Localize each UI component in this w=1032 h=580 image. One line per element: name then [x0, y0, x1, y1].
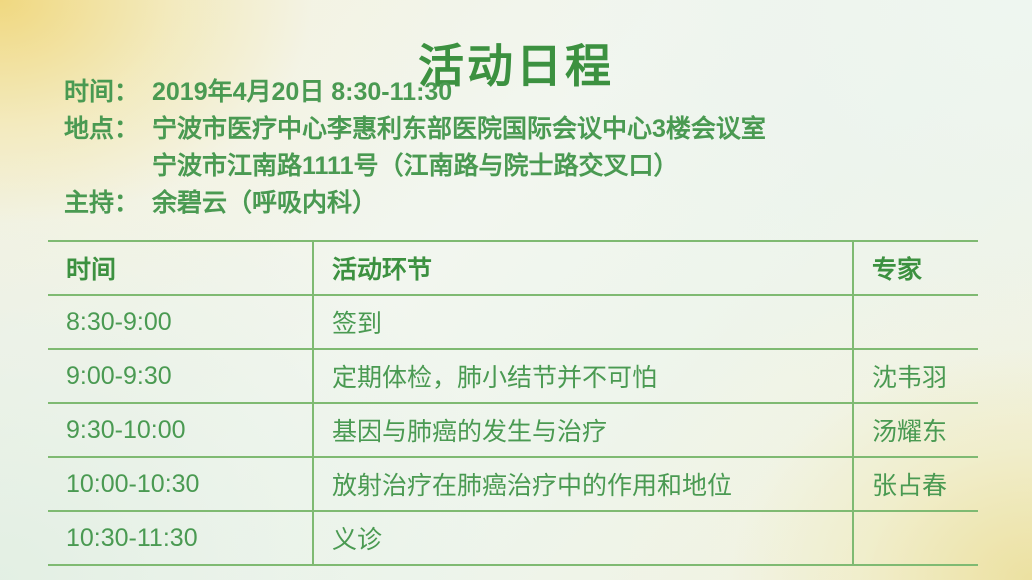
cell-item: 义诊 [313, 511, 853, 565]
schedule-table: 时间 活动环节 专家 8:30-9:00签到9:00-9:30定期体检，肺小结节… [48, 240, 978, 566]
info-line: 地点：宁波市医疗中心李惠利东部医院国际会议中心3楼会议室 [64, 111, 984, 148]
cell-item: 基因与肺癌的发生与治疗 [313, 403, 853, 457]
cell-item: 签到 [313, 295, 853, 349]
table-row: 9:30-10:00基因与肺癌的发生与治疗汤耀东 [48, 403, 978, 457]
info-value: 2019年4月20日 8:30-11:30 [152, 74, 452, 111]
cell-time: 10:00-10:30 [48, 457, 313, 511]
table-row: 10:30-11:30义诊 [48, 511, 978, 565]
info-line: 主持：余碧云（呼吸内科） [64, 185, 984, 222]
column-header-expert: 专家 [853, 241, 978, 295]
schedule-table-head: 时间 活动环节 专家 [48, 241, 978, 295]
cell-expert [853, 511, 978, 565]
column-header-time: 时间 [48, 241, 313, 295]
info-label: 地点： [64, 111, 152, 148]
info-label: 时间： [64, 74, 152, 111]
cell-time: 10:30-11:30 [48, 511, 313, 565]
info-line: 地点：宁波市江南路1111号（江南路与院士路交叉口） [64, 148, 984, 185]
cell-item: 定期体检，肺小结节并不可怕 [313, 349, 853, 403]
cell-item: 放射治疗在肺癌治疗中的作用和地位 [313, 457, 853, 511]
column-header-item: 活动环节 [313, 241, 853, 295]
event-info-block: 时间：2019年4月20日 8:30-11:30地点：宁波市医疗中心李惠利东部医… [64, 74, 984, 222]
event-schedule-poster: 活动日程 时间：2019年4月20日 8:30-11:30地点：宁波市医疗中心李… [0, 0, 1032, 580]
cell-expert: 张占春 [853, 457, 978, 511]
cell-expert: 沈韦羽 [853, 349, 978, 403]
info-value: 宁波市江南路1111号（江南路与院士路交叉口） [152, 148, 678, 185]
cell-time: 9:30-10:00 [48, 403, 313, 457]
cell-time: 9:00-9:30 [48, 349, 313, 403]
cell-expert: 汤耀东 [853, 403, 978, 457]
table-header-row: 时间 活动环节 专家 [48, 241, 978, 295]
info-line: 时间：2019年4月20日 8:30-11:30 [64, 74, 984, 111]
cell-time: 8:30-9:00 [48, 295, 313, 349]
table-row: 8:30-9:00签到 [48, 295, 978, 349]
info-label: 主持： [64, 185, 152, 222]
cell-expert [853, 295, 978, 349]
info-value: 余碧云（呼吸内科） [152, 185, 377, 222]
table-row: 10:00-10:30放射治疗在肺癌治疗中的作用和地位张占春 [48, 457, 978, 511]
table-row: 9:00-9:30定期体检，肺小结节并不可怕沈韦羽 [48, 349, 978, 403]
info-value: 宁波市医疗中心李惠利东部医院国际会议中心3楼会议室 [152, 111, 766, 148]
schedule-table-body: 8:30-9:00签到9:00-9:30定期体检，肺小结节并不可怕沈韦羽9:30… [48, 295, 978, 565]
